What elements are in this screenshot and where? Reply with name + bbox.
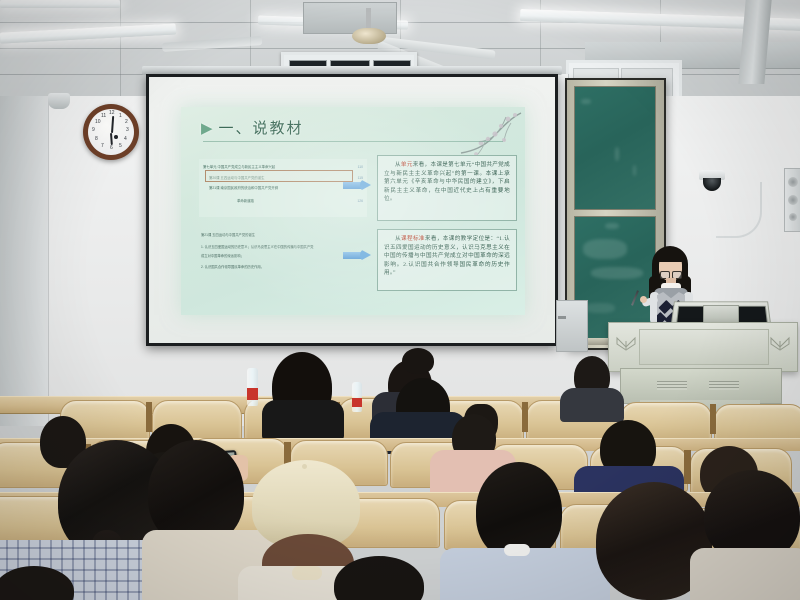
hair-tie [292, 566, 322, 580]
podium-body [620, 368, 782, 404]
slide-heading: ▶一、说教材 [201, 117, 304, 138]
wall-speaker [784, 168, 800, 232]
fan-hub [352, 28, 386, 44]
student-body [560, 388, 624, 422]
water-bottle [247, 368, 258, 406]
wall-seam [48, 96, 49, 426]
podium-emblem-icon [769, 335, 791, 351]
toc-line: 第21课 南京国民政府的统治和中国共产党开辟 [209, 186, 278, 190]
fluorescent-light [0, 0, 120, 8]
objective-line: 1. 认识五四爱国运动的历史意义；认识马克思主义在中国的传播与中国共产党 [201, 245, 313, 249]
objective-line: 2. 认识国共合作领导国民革命的历史作用。 [201, 265, 264, 269]
heading-text: 一、说教材 [219, 121, 304, 137]
toc-page: 110 [358, 165, 363, 169]
clock-minute-hand [111, 116, 114, 133]
textbook-toc-block: 第七单元 中国共产党成立与新民主主义革命兴起 110 第20课 五四运动与中国共… [199, 159, 367, 217]
toc-line: 第七单元 中国共产党成立与新民主主义革命兴起 [203, 165, 275, 169]
left-wall [0, 96, 48, 426]
student-body [262, 400, 344, 440]
presentation-slide: ▶一、说教材 第七单元 中国共产党成立与新民主主义革命兴起 110 第20课 五… [181, 107, 525, 315]
camera-cable [716, 182, 762, 238]
toc-highlight-box [205, 170, 353, 182]
objective-line: 成立对中国革命的深远影响； [201, 254, 244, 258]
cap-button [302, 464, 307, 469]
textbox1-body: 来看，本课是第七单元“中国共产党成立与新民主主义革命兴起”的第一课。本课上承第六… [384, 162, 510, 202]
toc-line: 革命新道路 [237, 199, 254, 203]
slide-textbox-unit: 从单元来看，本课是第七单元“中国共产党成立与新民主主义革命兴起”的第一课。本课上… [377, 155, 517, 221]
student-head [402, 348, 434, 374]
arrow-right-icon [343, 179, 371, 192]
hair-front [656, 248, 685, 262]
clock-hour-hand [110, 133, 113, 145]
textbox2-keyword: 课程标准 [401, 236, 425, 242]
objective-line: 第21课 五四运动与中国共产党的诞生 [201, 233, 255, 237]
blackboard-panel-upper [574, 86, 656, 210]
arrow-right-icon [343, 249, 371, 262]
wall-sensor [48, 93, 70, 109]
textbox2-body: 来看，本课的教学定位是：“1.认识五四爱国运动的历史意义，认识马克思主义在中国的… [384, 236, 510, 276]
projection-screen[interactable]: ▶一、说教材 第七单元 中国共产党成立与新民主主义革命兴起 110 第20课 五… [146, 74, 558, 346]
podium-emblem-icon [615, 335, 637, 351]
water-bottle [352, 382, 362, 412]
heading-underline [203, 141, 503, 142]
cabinet-handle [558, 316, 566, 319]
textbox1-keyword: 单元 [401, 162, 413, 168]
podium-desk [608, 322, 798, 372]
student-body [690, 548, 800, 600]
toc-page: 126 [357, 199, 363, 203]
clock-face: 12 3 6 9 1 2 4 5 7 8 10 11 [88, 109, 134, 155]
seat-divider [146, 402, 152, 432]
ceiling-fan-mount [303, 2, 397, 34]
classroom-photo: 12 3 6 9 1 2 4 5 7 8 10 11 [0, 0, 800, 600]
heading-marker-icon: ▶ [201, 119, 215, 138]
podium-front-panel [639, 329, 769, 365]
hand [640, 296, 647, 303]
side-cabinet [556, 300, 588, 352]
wall-clock: 12 3 6 9 1 2 4 5 7 8 10 11 [83, 104, 139, 160]
seat-divider [522, 402, 528, 432]
screen-surface: ▶一、说教材 第七单元 中国共产党成立与新民主主义革命兴起 110 第20课 五… [149, 77, 555, 343]
seat-divider [684, 450, 691, 484]
clock-center-pin [114, 135, 118, 139]
slide-textbox-standard: 从课程标准来看，本课的教学定位是：“1.认识五四爱国运动的历史意义，认识马克思主… [377, 229, 517, 291]
seat-divider [710, 404, 716, 434]
hair-tie [504, 544, 530, 556]
